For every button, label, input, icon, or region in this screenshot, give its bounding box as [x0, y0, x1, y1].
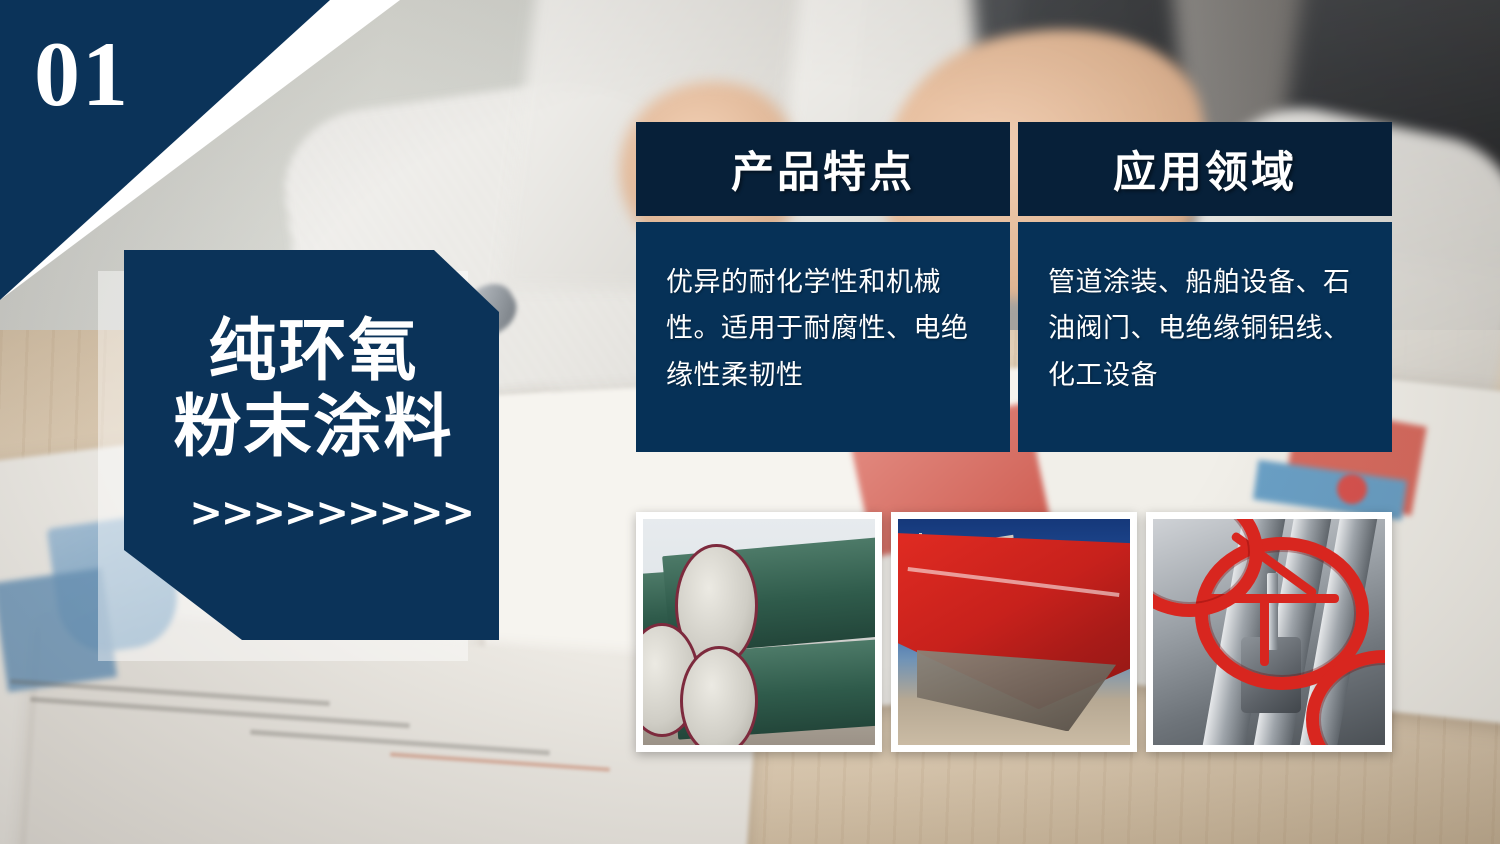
photo-coated-steel-pipes [636, 512, 882, 752]
photo-inner [1153, 519, 1385, 745]
column-header-label: 应用领域 [1113, 138, 1297, 200]
column-header-application-areas: 应用领域 [1018, 122, 1392, 216]
column-application-areas: 应用领域 管道涂装、船舶设备、石油阀门、电绝缘铜铝线、化工设备 [1018, 122, 1392, 452]
pipes-image [643, 519, 875, 745]
column-header-label: 产品特点 [731, 138, 915, 200]
info-columns: 产品特点 优异的耐化学性和机械性。适用于耐腐性、电绝缘性柔韧性 应用领域 管道涂… [636, 122, 1392, 452]
handwheel-spoke [1260, 594, 1269, 666]
column-body-text: 优异的耐化学性和机械性。适用于耐腐性、电绝缘性柔韧性 [666, 260, 984, 399]
column-body-product-features: 优异的耐化学性和机械性。适用于耐腐性、电绝缘性柔韧性 [636, 222, 1010, 452]
ship-image [898, 519, 1130, 745]
title-card: 纯环氧 粉末涂料 >>>>>>>>> [124, 250, 499, 640]
title-line-1: 纯环氧 [124, 314, 499, 390]
photo-inner [898, 519, 1130, 745]
column-header-product-features: 产品特点 [636, 122, 1010, 216]
slide-number: 01 [34, 28, 130, 120]
column-body-application-areas: 管道涂装、船舶设备、石油阀门、电绝缘铜铝线、化工设备 [1018, 222, 1392, 452]
photo-red-valve-handwheels [1146, 512, 1392, 752]
valves-image [1153, 519, 1385, 745]
photo-red-ship-hull [891, 512, 1137, 752]
chevron-arrows-icon: >>>>>>>>> [124, 490, 499, 536]
column-body-text: 管道涂装、船舶设备、石油阀门、电绝缘铜铝线、化工设备 [1048, 260, 1366, 399]
column-product-features: 产品特点 优异的耐化学性和机械性。适用于耐腐性、电绝缘性柔韧性 [636, 122, 1010, 452]
photo-strip [636, 512, 1392, 752]
title-line-2: 粉末涂料 [124, 390, 499, 466]
slide-canvas: 01 纯环氧 粉末涂料 >>>>>>>>> 产品特点 优异的耐化学性和机械性。适… [0, 0, 1500, 844]
photo-inner [643, 519, 875, 745]
